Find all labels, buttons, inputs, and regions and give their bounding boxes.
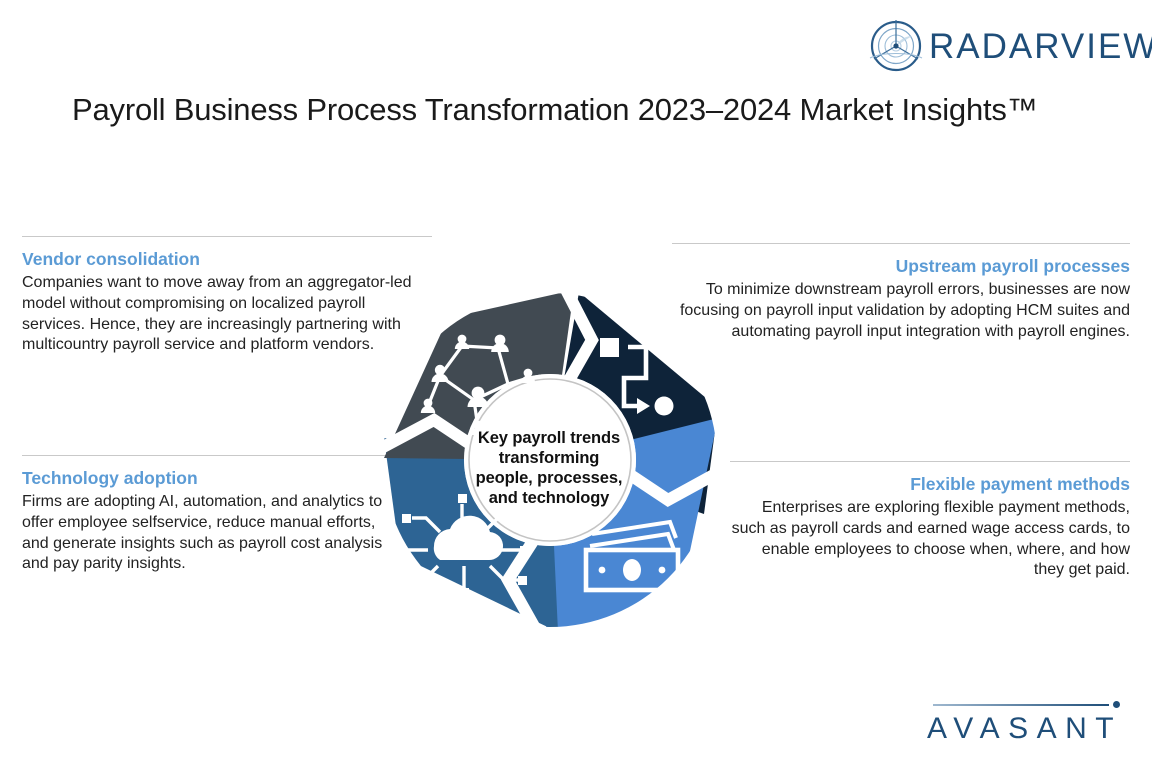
- radarview-wordmark: RADARVIEW™: [929, 29, 1152, 64]
- divider-line: [672, 243, 1130, 244]
- quadrant-upstream-payroll-processes: Upstream payroll processes To minimize d…: [672, 243, 1130, 342]
- avasant-bar-dot-icon: [925, 700, 1125, 710]
- quadrant-heading: Upstream payroll processes: [672, 256, 1130, 277]
- quadrant-heading: Technology adoption: [22, 468, 392, 489]
- quadrant-flexible-payment-methods: Flexible payment methods Enterprises are…: [730, 461, 1130, 581]
- quadrant-body: Firms are adopting AI, automation, and a…: [22, 492, 392, 575]
- quadrant-heading: Vendor consolidation: [22, 249, 432, 270]
- cycle-donut-diagram: [378, 288, 722, 632]
- divider-line: [22, 236, 432, 237]
- divider-line: [730, 461, 1130, 462]
- quadrant-body: Enterprises are exploring flexible payme…: [730, 498, 1130, 581]
- quadrant-vendor-consolidation: Vendor consolidation Companies want to m…: [22, 236, 432, 356]
- quadrant-technology-adoption: Technology adoption Firms are adopting A…: [22, 455, 392, 575]
- donut-center-hub: [464, 374, 636, 546]
- quadrant-body: Companies want to move away from an aggr…: [22, 273, 432, 356]
- avasant-logo: AVASANT: [925, 700, 1125, 756]
- quadrant-body: To minimize downstream payroll errors, b…: [672, 280, 1130, 342]
- radar-target-icon: [868, 18, 924, 74]
- avasant-dot: [1113, 701, 1120, 708]
- radarview-logo: RADARVIEW™: [868, 18, 1152, 74]
- page-title: Payroll Business Process Transformation …: [72, 92, 1038, 128]
- avasant-wordmark: AVASANT: [927, 714, 1125, 744]
- infographic-page: RADARVIEW™ Payroll Business Process Tran…: [0, 0, 1152, 768]
- divider-line: [22, 455, 392, 456]
- quadrant-heading: Flexible payment methods: [730, 474, 1130, 495]
- avasant-line: [933, 704, 1109, 706]
